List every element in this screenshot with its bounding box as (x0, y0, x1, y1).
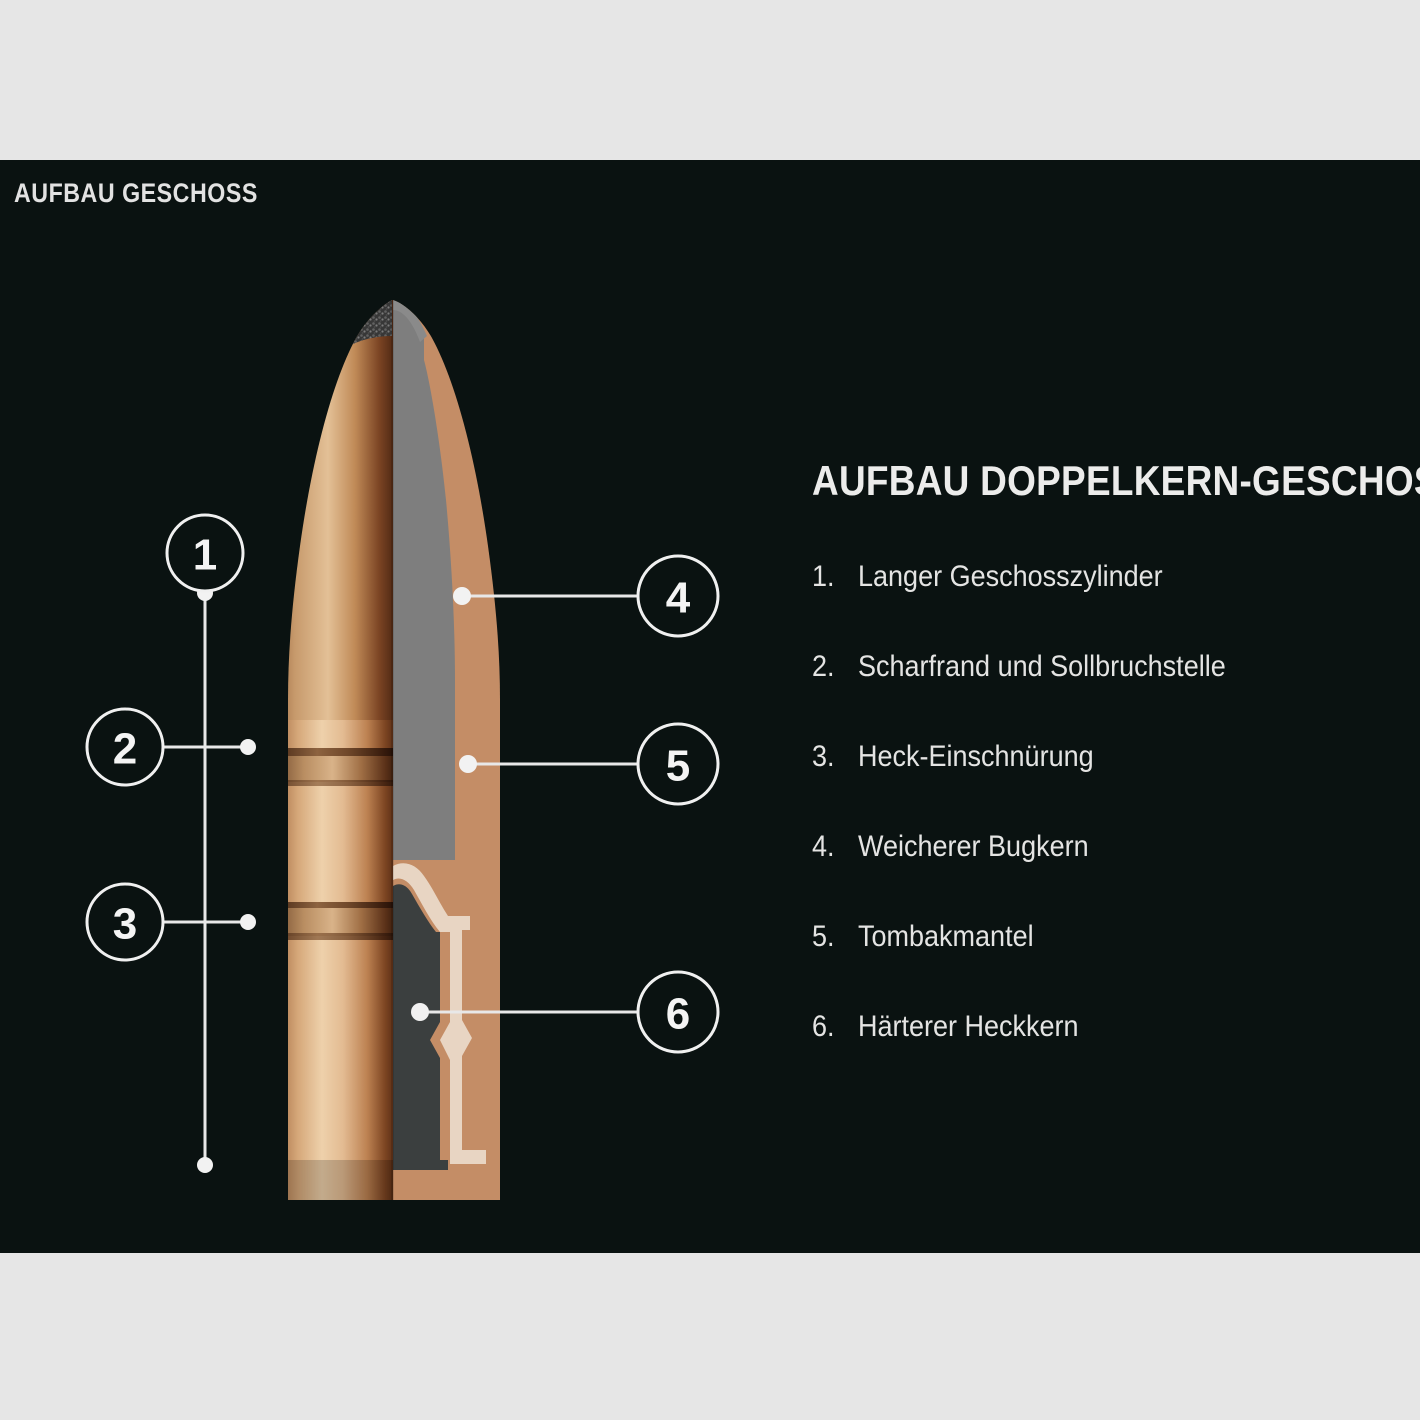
legend-list: 1. Langer Geschosszylinder 2. Scharfrand… (812, 560, 1412, 1100)
callout-2-number: 2 (113, 725, 137, 774)
legend-item-2-label: Scharfrand und Sollbruchstelle (858, 650, 1226, 684)
legend-item-2-number: 2. (812, 650, 853, 684)
legend-item-5-number: 5. (812, 920, 853, 954)
legend-item-6-number: 6. (812, 1010, 853, 1044)
callout-5[interactable]: 5 (638, 724, 718, 804)
legend-item-3: 3. Heck-Einschnürung (812, 740, 1412, 830)
legend-item-5: 5. Tombakmantel (812, 920, 1412, 1010)
legend-item-4: 4. Weicherer Bugkern (812, 830, 1412, 920)
legend-item-3-number: 3. (812, 740, 853, 774)
callout-4-number: 4 (666, 574, 691, 623)
callout-2[interactable]: 2 (87, 709, 163, 785)
cutaway-seam (391, 300, 394, 1200)
callout-1[interactable]: 1 (167, 515, 243, 591)
callout-6-number: 6 (666, 990, 690, 1039)
callout-6[interactable]: 6 (638, 972, 718, 1052)
legend-item-6-label: Härterer Heckkern (858, 1010, 1079, 1044)
legend-panel: AUFBAU DOPPELKERN-GESCHOSS 1. Langer Ges… (812, 460, 1412, 1100)
legend-item-1-label: Langer Geschosszylinder (858, 560, 1163, 594)
callout-5-number: 5 (666, 742, 690, 791)
legend-item-3-label: Heck-Einschnürung (858, 740, 1094, 774)
bullet-photo-half (250, 280, 400, 1220)
legend-item-1-number: 1. (812, 560, 853, 594)
legend-item-2: 2. Scharfrand und Sollbruchstelle (812, 650, 1412, 740)
legend-item-6: 6. Härterer Heckkern (812, 1010, 1412, 1100)
screenshot-root: AUFBAU GESCHOSS (0, 0, 1420, 1420)
legend-item-1: 1. Langer Geschosszylinder (812, 560, 1412, 650)
callout-3[interactable]: 3 (87, 884, 163, 960)
bullet-cutaway-diagram: 1 2 3 4 5 (0, 160, 800, 1253)
callout-3-number: 3 (113, 900, 137, 949)
callout-4[interactable]: 4 (638, 556, 718, 636)
legend-item-4-number: 4. (812, 830, 853, 864)
legend-title: AUFBAU DOPPELKERN-GESCHOSS (812, 460, 1340, 502)
legend-item-4-label: Weicherer Bugkern (858, 830, 1089, 864)
legend-item-5-label: Tombakmantel (858, 920, 1034, 954)
bullet-schematic-half (385, 280, 535, 1220)
callout-1-number: 1 (193, 531, 217, 580)
